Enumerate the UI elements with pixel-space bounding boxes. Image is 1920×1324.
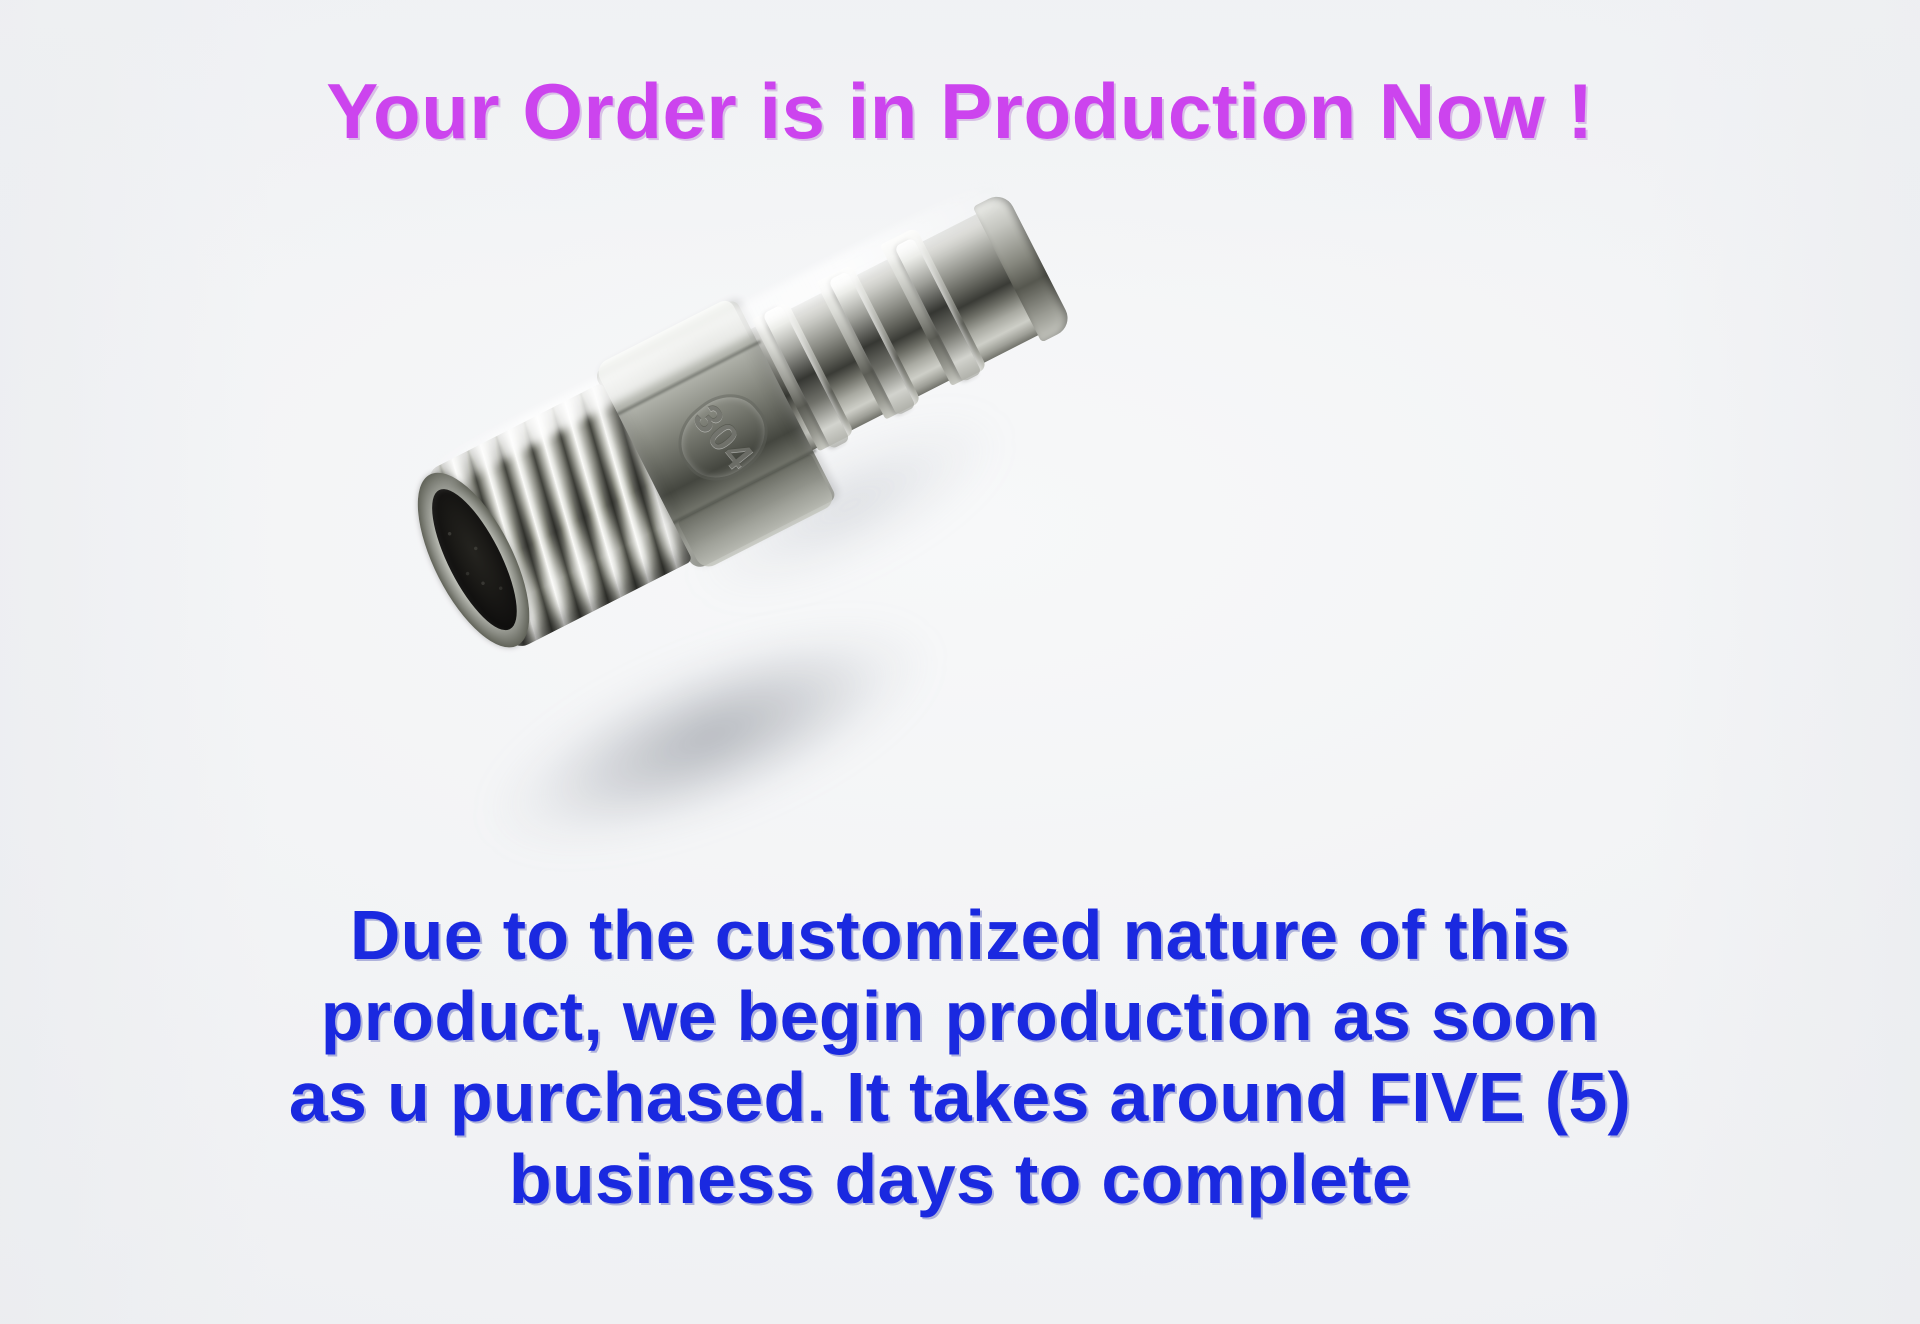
notice-body-line-3: as u purchased. It takes around FIVE (5) [0, 1057, 1920, 1138]
notice-body: Due to the customized nature of this pro… [0, 895, 1920, 1220]
product-photo: 304 [366, 82, 1203, 819]
notice-body-line-4: business days to complete [0, 1139, 1920, 1220]
notice-body-line-1: Due to the customized nature of this [0, 895, 1920, 976]
notice-banner: Your Order is in Production Now ! 304 D [0, 0, 1920, 1324]
notice-body-line-2: product, we begin production as soon [0, 976, 1920, 1057]
